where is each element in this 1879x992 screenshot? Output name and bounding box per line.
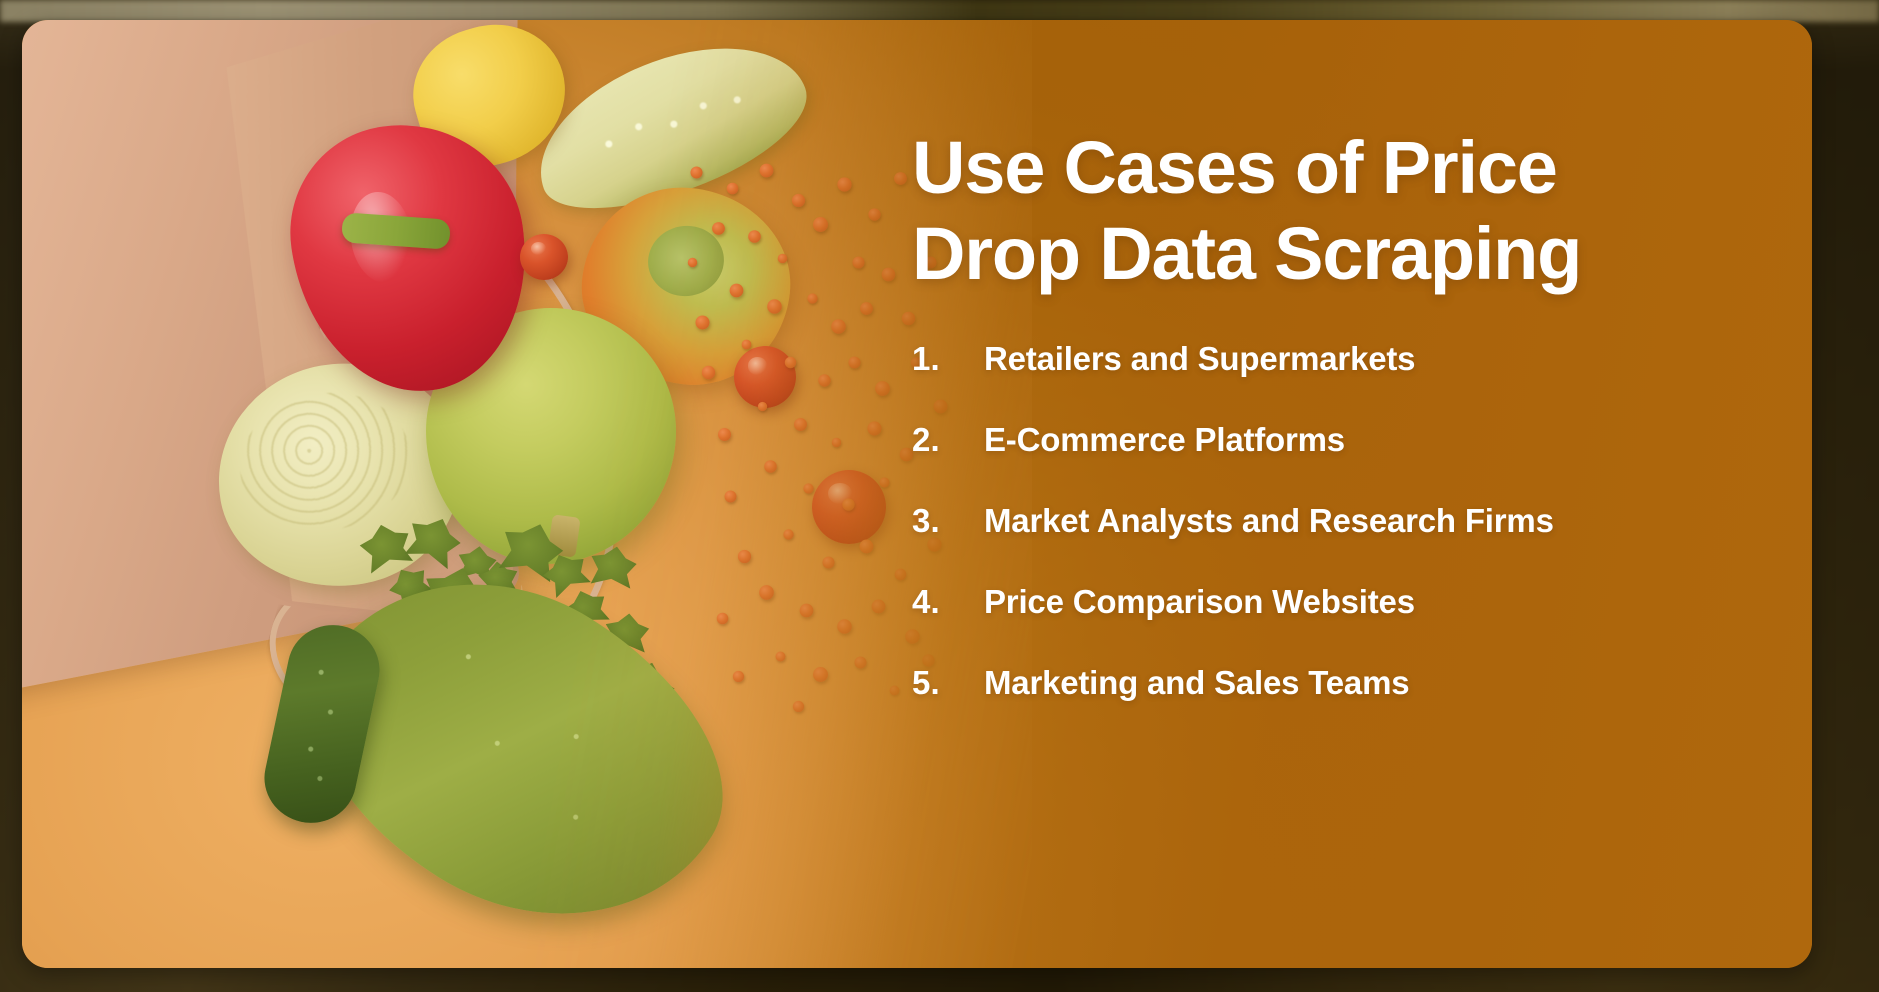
lentil: [848, 356, 860, 368]
list-item: 5. Marketing and Sales Teams: [912, 664, 1802, 745]
page-title: Use Cases of Price Drop Data Scraping: [912, 125, 1792, 297]
lentil: [890, 686, 900, 696]
list-item-label: Retailers and Supermarkets: [984, 340, 1415, 378]
lentil: [775, 651, 785, 661]
lentil: [717, 613, 729, 625]
lentil: [831, 319, 846, 334]
lentil: [695, 315, 709, 329]
parsley-leaf: [397, 509, 468, 578]
lentil: [778, 254, 788, 264]
lentil: [872, 600, 886, 614]
cherry-tomato: [520, 234, 568, 280]
lentil: [813, 667, 828, 682]
lentil: [879, 477, 889, 487]
list-item-label: Marketing and Sales Teams: [984, 664, 1409, 702]
lentil: [868, 208, 880, 220]
lentil: [794, 418, 807, 431]
lentil: [867, 421, 881, 435]
lentil: [882, 268, 896, 282]
lentil: [783, 529, 793, 539]
lentil: [860, 302, 873, 315]
lentil: [875, 381, 890, 396]
backdrop-top-band: [0, 0, 1879, 22]
list-item: 2. E-Commerce Platforms: [912, 421, 1802, 502]
lentil: [852, 256, 864, 268]
lentil: [895, 569, 907, 581]
lentil: [702, 366, 715, 379]
list-item-label: E-Commerce Platforms: [984, 421, 1345, 459]
lentil: [718, 428, 731, 441]
parsley-leaf: [585, 542, 641, 595]
lentil: [690, 166, 702, 178]
lentil: [800, 604, 814, 618]
text-column: Use Cases of Price Drop Data Scraping 1.…: [912, 20, 1812, 968]
lentil: [730, 284, 744, 298]
list-item-number: 1.: [912, 340, 984, 378]
lentil: [803, 483, 813, 493]
lentil: [894, 172, 907, 185]
lentil: [725, 491, 737, 503]
lentil: [758, 402, 767, 411]
banner-card: Use Cases of Price Drop Data Scraping 1.…: [22, 20, 1812, 968]
lentil: [733, 671, 744, 682]
produce-photo: [22, 20, 1032, 968]
lentil: [785, 357, 796, 368]
lentil: [837, 177, 851, 191]
lentil: [818, 374, 830, 386]
list-item: 1. Retailers and Supermarkets: [912, 340, 1802, 421]
list-item-number: 3.: [912, 502, 984, 540]
lentil: [842, 498, 854, 510]
lentil: [712, 222, 725, 235]
list-item: 3. Market Analysts and Research Firms: [912, 502, 1802, 583]
lentil: [759, 585, 774, 600]
lentil: [688, 258, 697, 267]
lentil: [860, 540, 874, 554]
list-item-label: Price Comparison Websites: [984, 583, 1415, 621]
lentil: [807, 293, 817, 303]
lentil: [760, 164, 774, 178]
lentil: [822, 556, 834, 568]
list-item-number: 2.: [912, 421, 984, 459]
lentil: [727, 183, 739, 195]
lentil: [742, 340, 752, 350]
lentil: [793, 701, 804, 712]
list-item-number: 4.: [912, 583, 984, 621]
lentil: [837, 619, 852, 634]
lentil: [748, 230, 761, 243]
list-item-label: Market Analysts and Research Firms: [984, 502, 1554, 540]
list-item: 4. Price Comparison Websites: [912, 583, 1802, 664]
lentil: [767, 299, 782, 314]
lentil: [738, 550, 751, 563]
lentil: [813, 217, 828, 232]
lentil: [854, 656, 866, 668]
lentil: [764, 460, 777, 473]
use-cases-list: 1. Retailers and Supermarkets 2. E-Comme…: [912, 340, 1802, 745]
list-item-number: 5.: [912, 664, 984, 702]
lentil: [832, 438, 841, 447]
lentil: [792, 194, 805, 207]
